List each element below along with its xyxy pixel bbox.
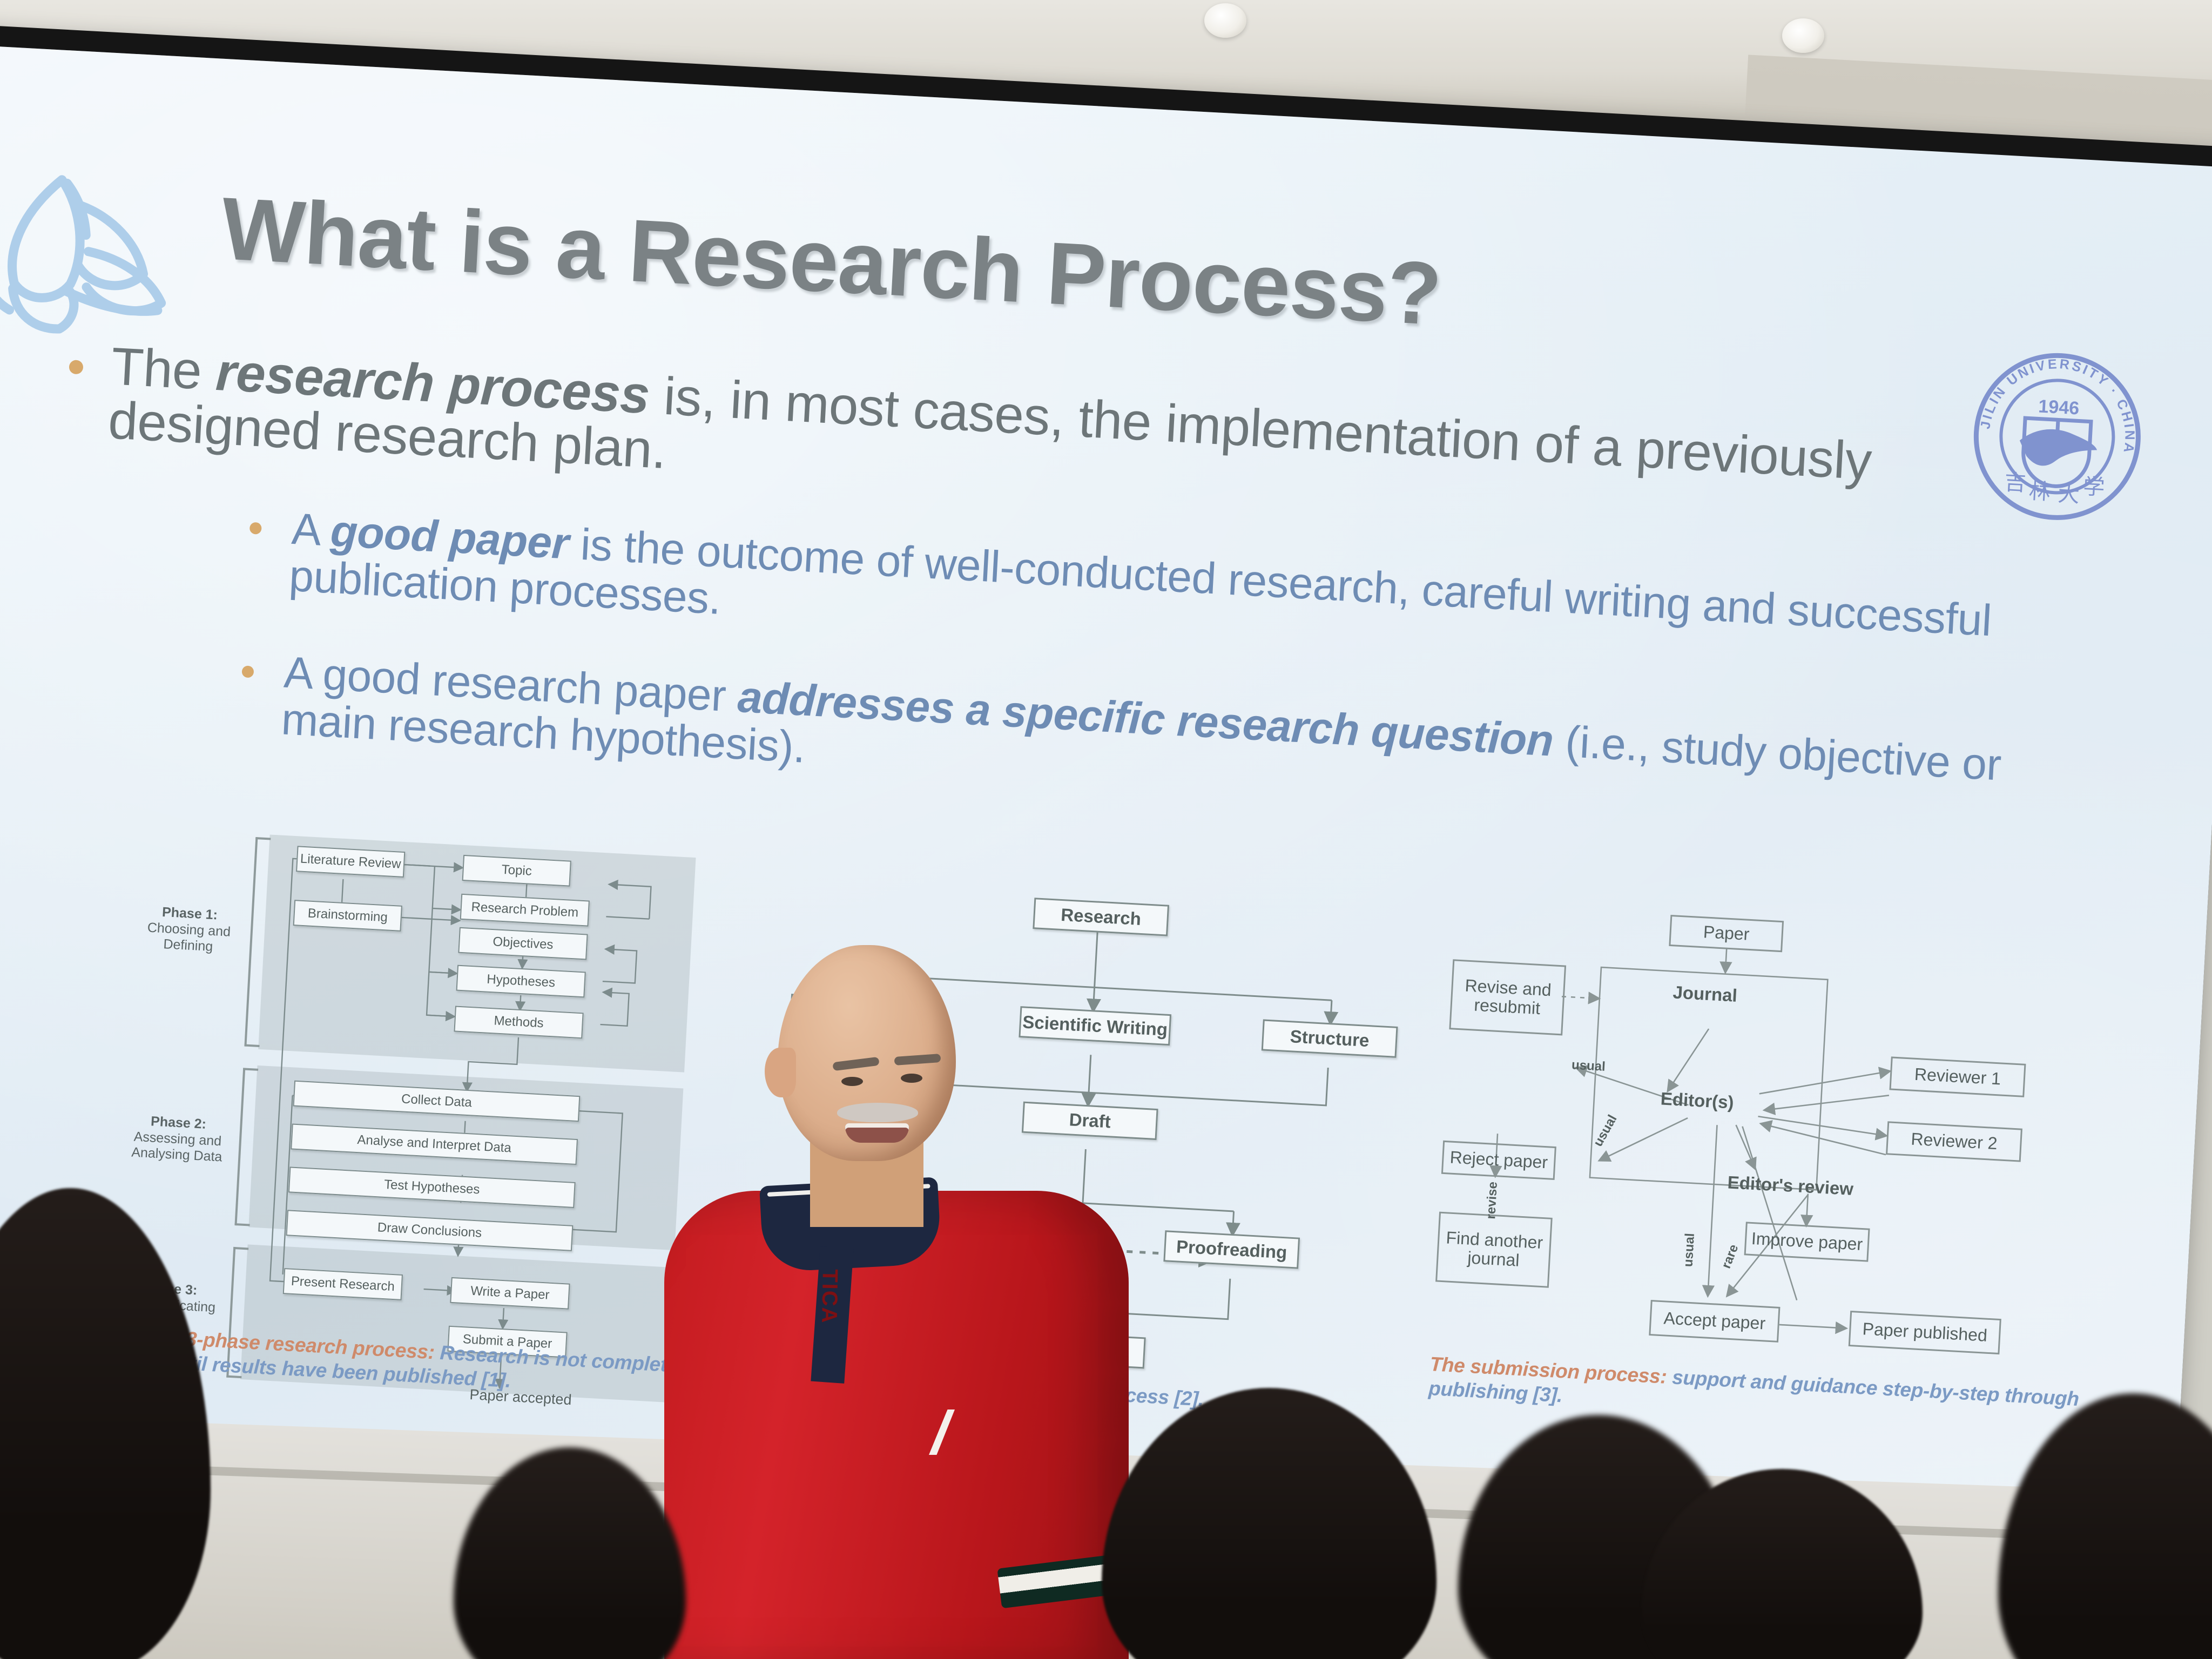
node-find-another-journal: Find another journal	[1435, 1212, 1553, 1288]
svg-text:1946: 1946	[2038, 396, 2080, 419]
presenter-ear	[765, 1048, 796, 1097]
node-paper: Paper	[1669, 915, 1784, 952]
edge-label-usual-3: usual	[1681, 1233, 1698, 1267]
presenter-mouth	[845, 1123, 909, 1143]
diagram-submission-process: Paper Journal Revise and resubmit Editor…	[1415, 898, 2141, 1491]
presenter-eye	[901, 1074, 922, 1083]
svg-text:学: 学	[2082, 474, 2105, 500]
edge-label-revise: revise	[1483, 1181, 1501, 1219]
edge-label-usual-1: usual	[1571, 1057, 1606, 1074]
presenter-eye	[841, 1077, 863, 1086]
node-accept-paper: Accept paper	[1649, 1300, 1780, 1343]
ceiling-light-icon	[1782, 18, 1824, 53]
ceiling-light-icon	[1204, 3, 1246, 38]
node-editors-label: Editor(s)	[1660, 1088, 1735, 1112]
bullet-dot-icon	[69, 360, 83, 374]
page-title: What is a Research Process?	[219, 178, 1444, 345]
presenter-mustache	[837, 1103, 918, 1122]
lecture-room-photo: What is a Research Process? JILIN UNIVER…	[0, 0, 2212, 1659]
node-revise-and-resubmit: Revise and resubmit	[1449, 959, 1566, 1035]
node-journal-label: Journal	[1673, 982, 1738, 1006]
shirt-brand-text: TICA	[808, 1269, 842, 1324]
bullet-dot-icon	[241, 665, 254, 678]
bullet-sub-2-emphasis: addresses a specific research question	[737, 672, 1555, 766]
bullet-dot-icon	[249, 522, 262, 535]
bullet-sub-1-prefix: A	[291, 504, 332, 556]
lotus-flower-icon	[0, 154, 182, 348]
slide-bullet-list: The research process is, in most cases, …	[27, 336, 2076, 839]
node-reject-paper: Reject paper	[1441, 1141, 1556, 1180]
node-improve-paper: Improve paper	[1744, 1222, 1870, 1262]
